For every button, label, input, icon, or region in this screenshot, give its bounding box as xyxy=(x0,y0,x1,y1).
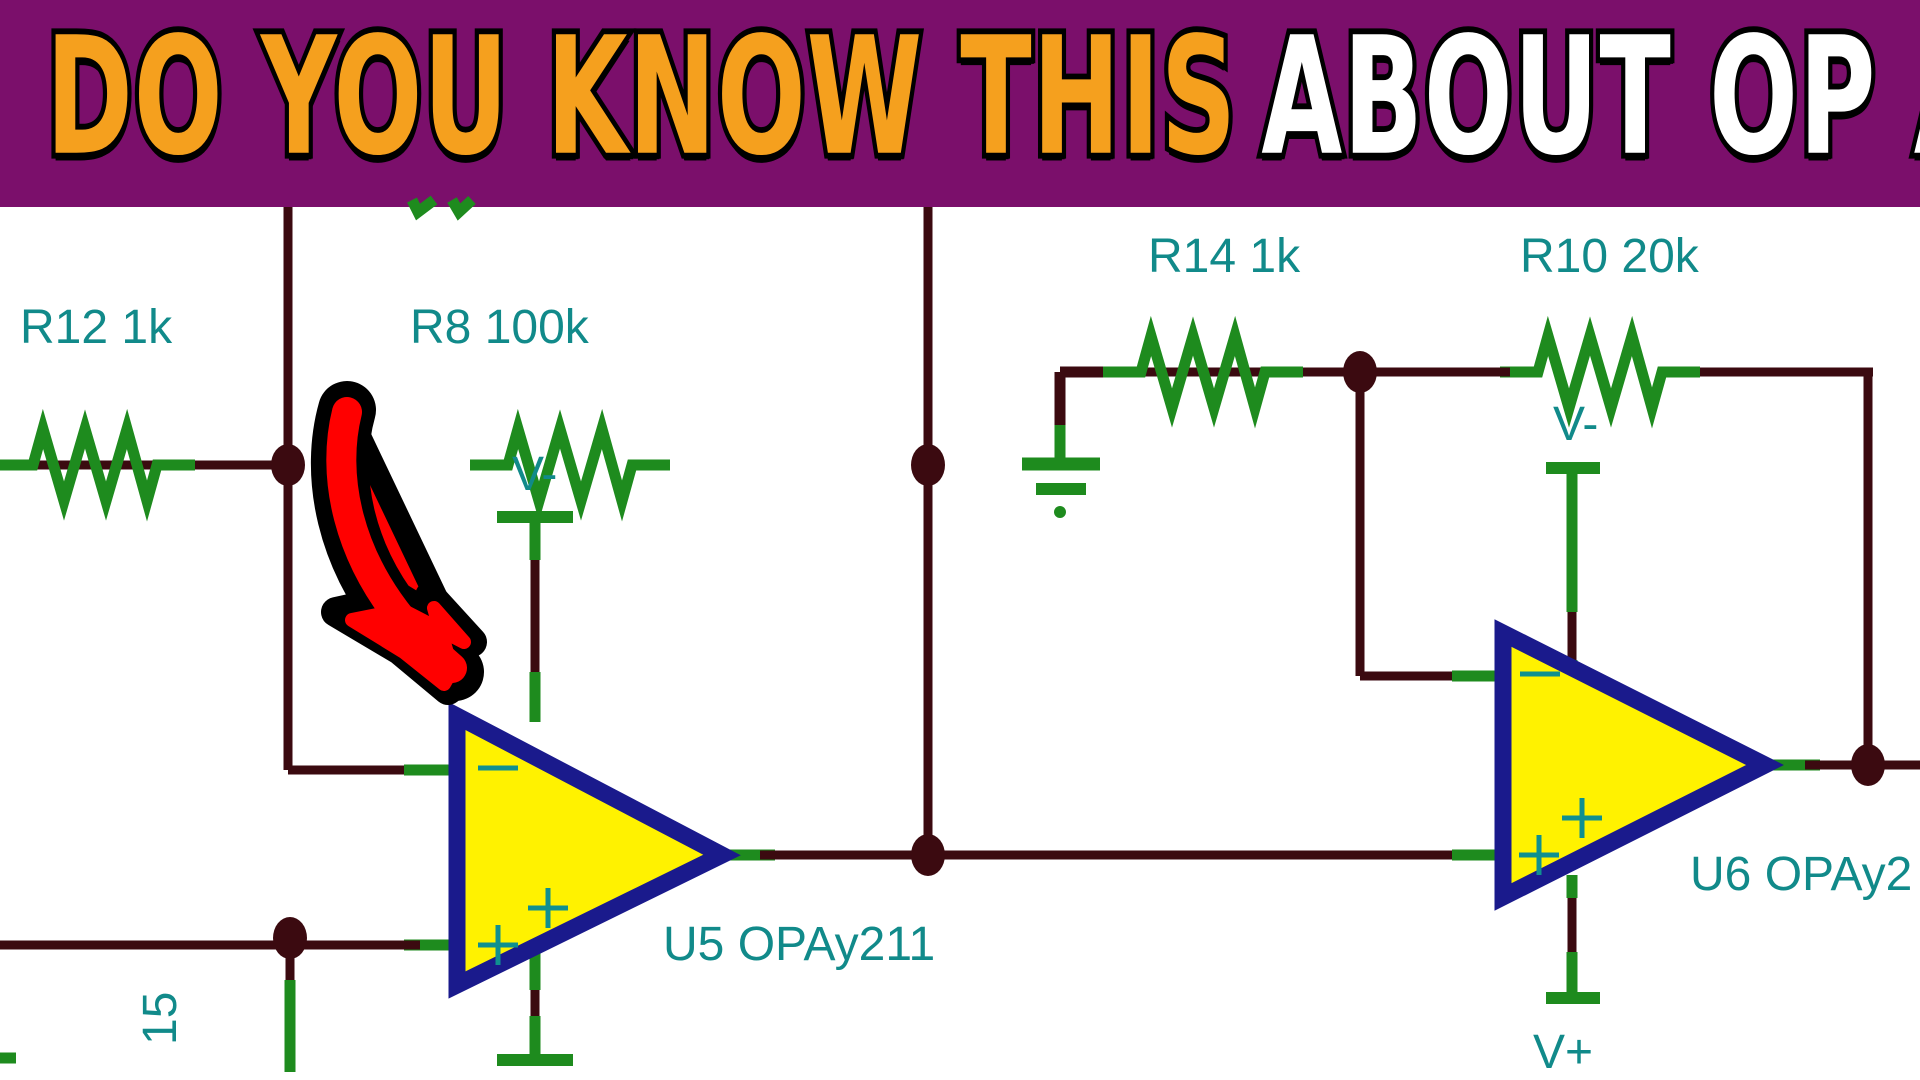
label-R15: 15 xyxy=(134,992,187,1045)
annotation-arrow xyxy=(336,410,472,690)
partial-resistor-above-banner xyxy=(412,200,472,212)
label-U5: U5 OPAy211 xyxy=(663,918,935,971)
label-U6: U6 OPAy2 xyxy=(1690,848,1912,901)
junction-dot-u5-output xyxy=(911,834,945,876)
label-R12: R12 1k xyxy=(20,301,173,354)
label-R8: R8 100k xyxy=(410,301,590,354)
junction-dot-r12-r8 xyxy=(271,444,305,486)
junction-dot-u6-output xyxy=(1851,744,1885,786)
component-R14 xyxy=(1103,336,1303,408)
label-R14: R14 1k xyxy=(1148,230,1301,283)
label-u5-vneg: V- xyxy=(512,448,557,501)
component-R8 xyxy=(470,429,670,501)
component-R12 xyxy=(0,429,195,501)
label-u6-vneg: V- xyxy=(1553,398,1598,451)
screenshot-root: DO YOU KNOW THISABOUT OP AMP? R12 1k R8 … xyxy=(0,0,1920,1080)
label-R10: R10 20k xyxy=(1520,230,1700,283)
circuit-schematic: R12 1k R8 100k V- xyxy=(0,0,1920,1080)
label-u6-vpos: V+ xyxy=(1533,1026,1593,1079)
component-R10 xyxy=(1500,336,1700,408)
ground-bar-3 xyxy=(1054,506,1066,518)
junction-dot-u5-feedback-top xyxy=(911,444,945,486)
